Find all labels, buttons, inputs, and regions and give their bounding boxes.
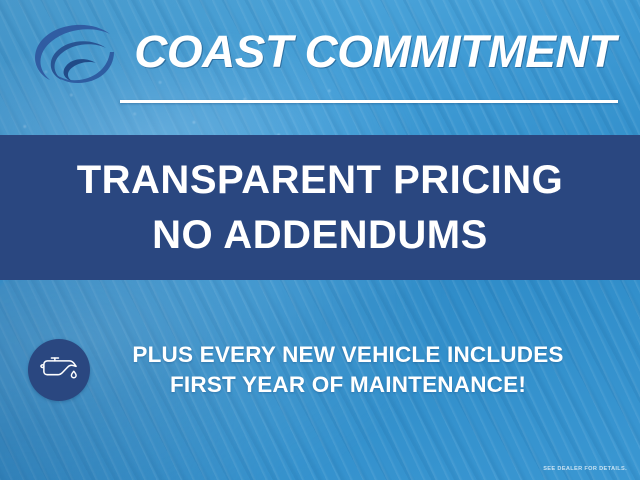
page-title: COAST COMMITMENT (120, 24, 630, 79)
coast-commitment-ad: COAST COMMITMENT TRANSPARENT PRICING NO … (0, 0, 640, 480)
headline-line-2: NO ADDENDUMS (152, 208, 488, 263)
headline-line-1: TRANSPARENT PRICING (77, 153, 564, 208)
promo-text-block: PLUS EVERY NEW VEHICLE INCLUDES FIRST YE… (90, 340, 640, 400)
disclaimer-text: SEE DEALER FOR DETAILS. (543, 466, 627, 472)
promo-row: PLUS EVERY NEW VEHICLE INCLUDES FIRST YE… (0, 325, 640, 415)
oil-can-icon (39, 354, 79, 386)
promo-line-1: PLUS EVERY NEW VEHICLE INCLUDES (90, 340, 606, 370)
wave-swirl-logo-icon (22, 22, 118, 94)
headline-band: TRANSPARENT PRICING NO ADDENDUMS (0, 135, 640, 280)
header-divider (120, 100, 618, 103)
ad-header: COAST COMMITMENT (0, 0, 640, 130)
oil-can-badge (28, 339, 90, 401)
promo-line-2: FIRST YEAR OF MAINTENANCE! (90, 370, 606, 400)
